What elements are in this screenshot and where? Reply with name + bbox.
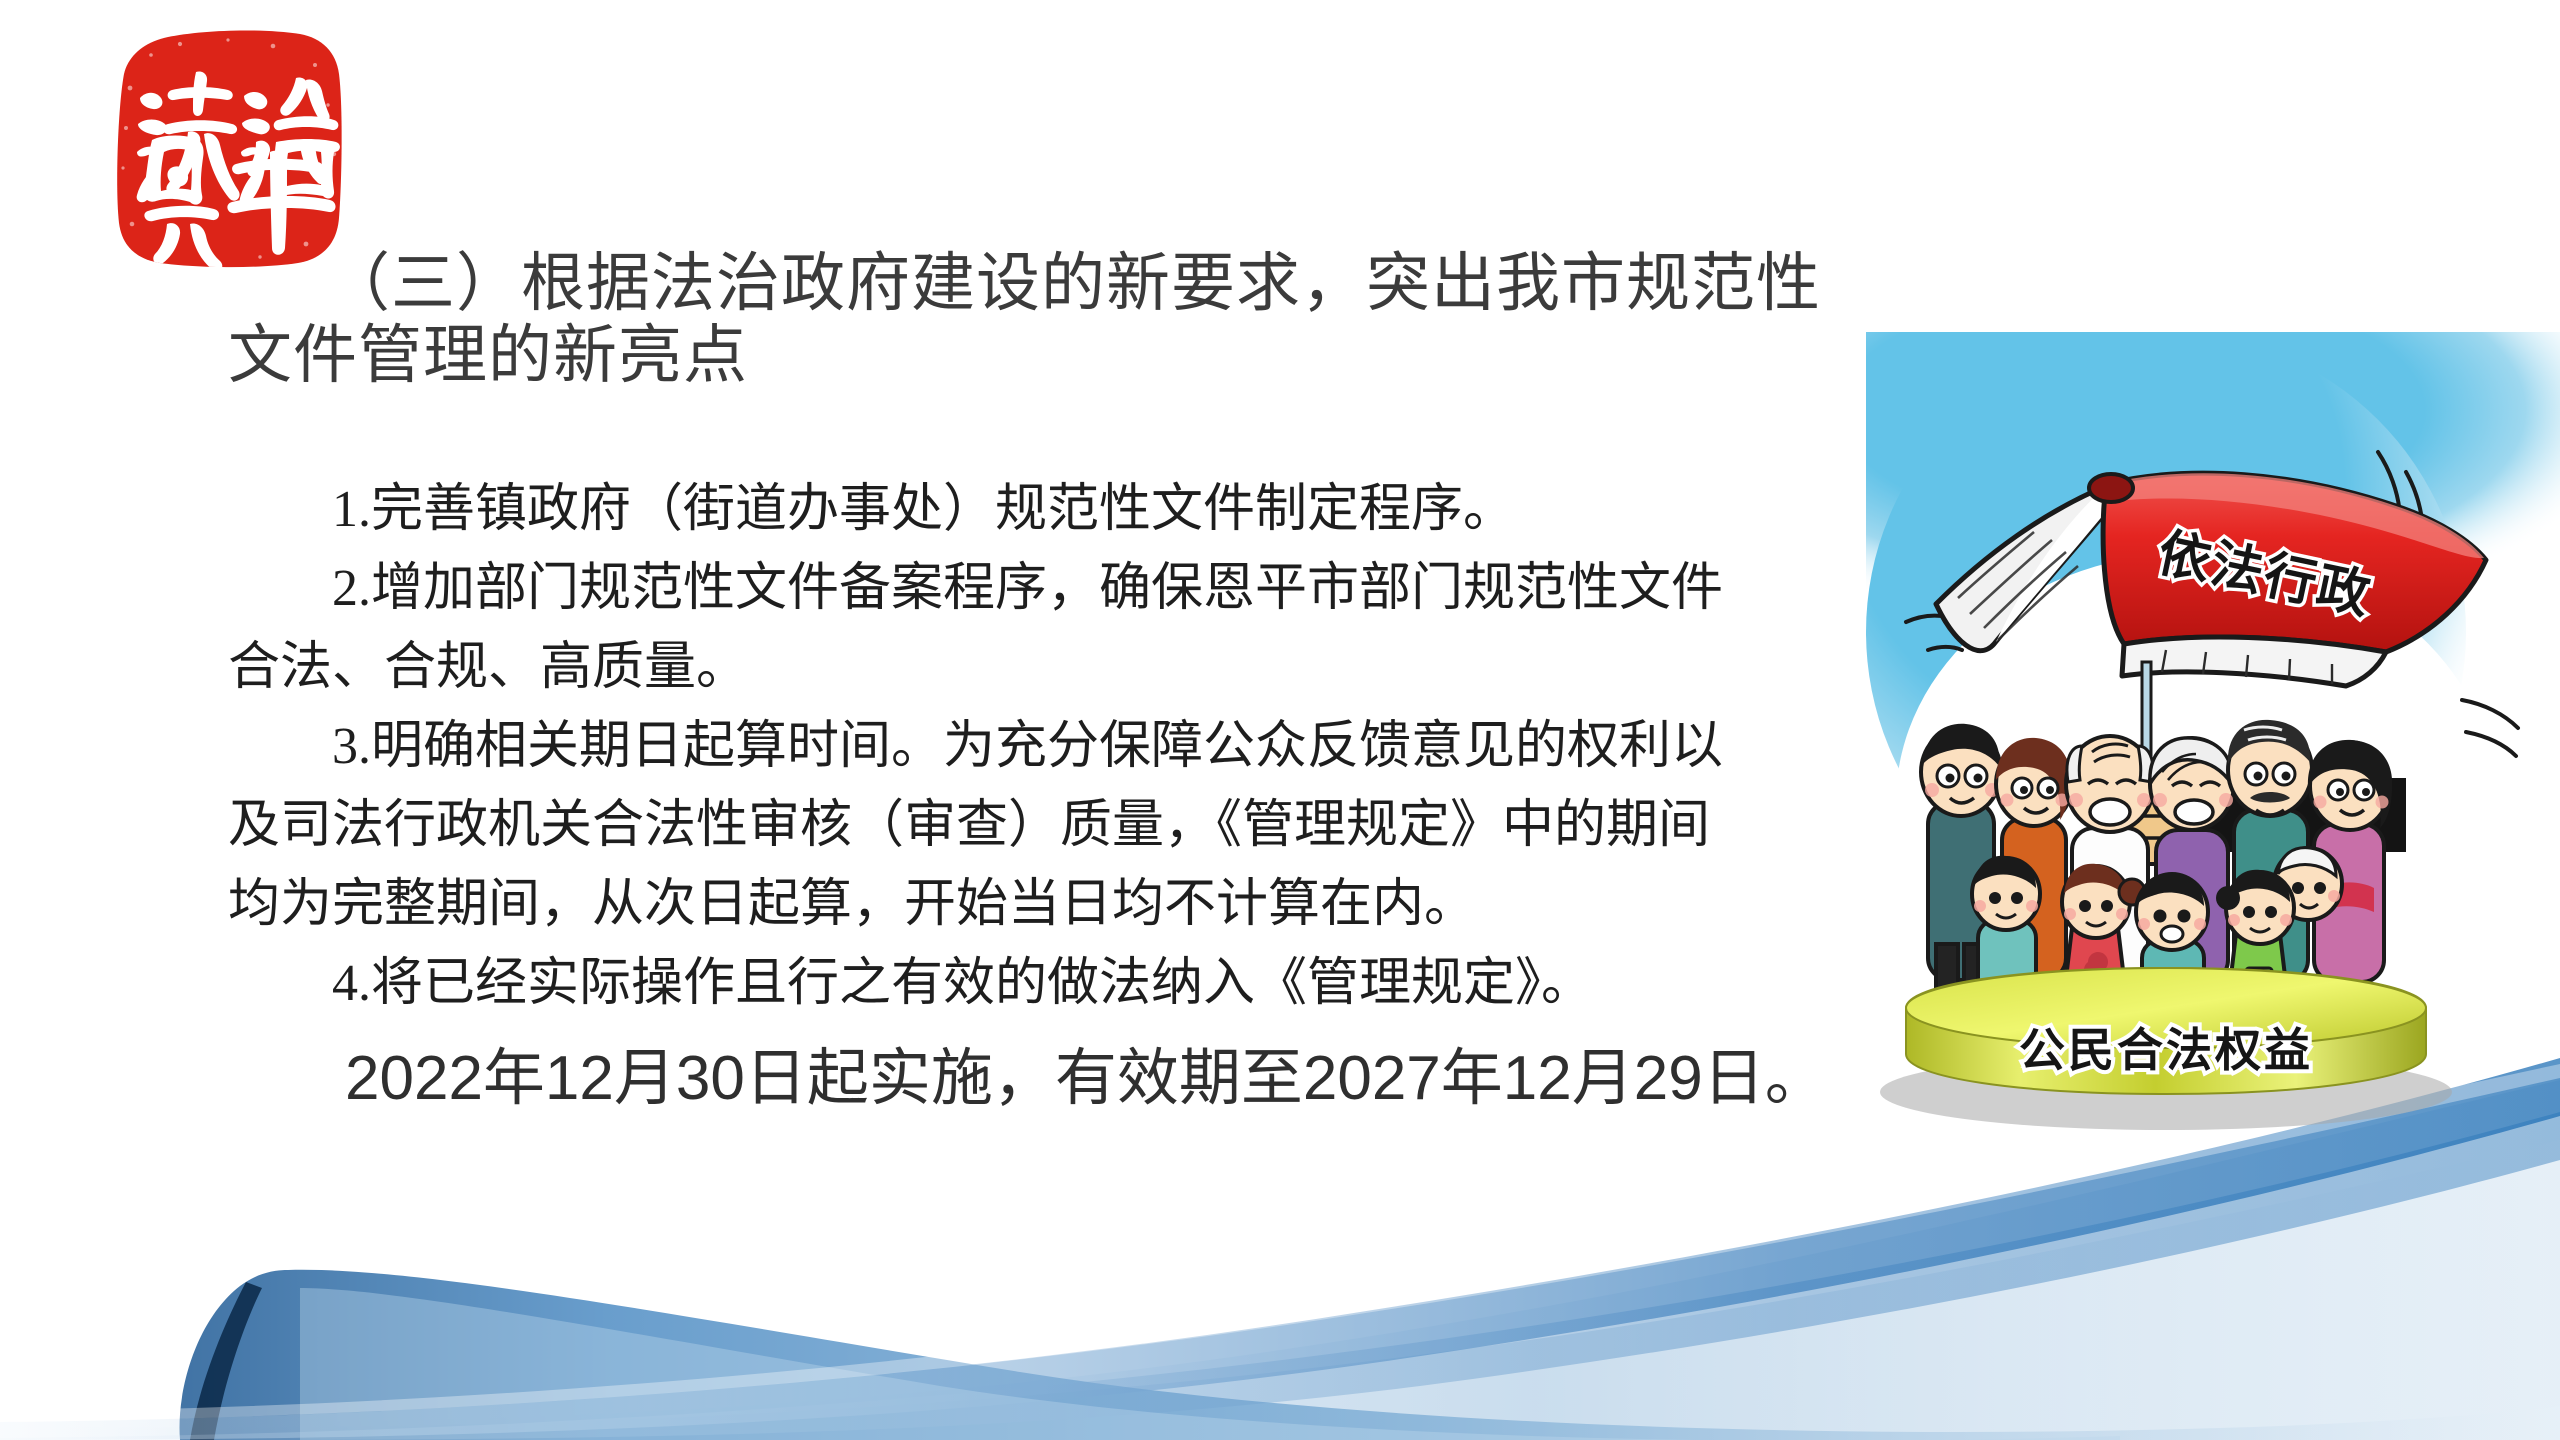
body-item-3-line-1: 3.明确相关期日起算时间。为充分保障公众反馈意见的权利以 bbox=[228, 707, 1973, 786]
body-item-2-line-2: 合法、合规、高质量。 bbox=[228, 628, 1973, 707]
slide-root: 依法行政 bbox=[0, 0, 2560, 1440]
body-item-1-line-1: 1.完善镇政府（街道办事处）规范性文件制定程序。 bbox=[228, 470, 1973, 549]
title-line-2: 文件管理的新亮点 bbox=[228, 319, 748, 391]
seal-logo-fazhi-enping bbox=[110, 28, 342, 268]
body-item-4: 4.将已经实际操作且行之有效的做法纳入《管理规定》。 bbox=[228, 944, 1973, 1023]
body-item-2-line-1: 2.增加部门规范性文件备案程序，确保恩平市部门规范性文件 bbox=[228, 549, 1973, 628]
body-item-3-line-2: 及司法行政机关合法性审核（审查）质量，《管理规定》中的期间 bbox=[228, 786, 1973, 865]
page-title: （三）根据法治政府建设的新要求，突出我市规范性文件管理的新亮点 bbox=[228, 248, 1988, 391]
body-item-4-line-1: 4.将已经实际操作且行之有效的做法纳入《管理规定》。 bbox=[228, 944, 1973, 1023]
body-item-2: 2.增加部门规范性文件备案程序，确保恩平市部门规范性文件 合法、合规、高质量。 bbox=[228, 549, 1973, 707]
body-item-1: 1.完善镇政府（街道办事处）规范性文件制定程序。 bbox=[228, 470, 1973, 549]
effective-date-notice: 2022年12月30日起实施，有效期至2027年12月29日。 bbox=[345, 1042, 1827, 1116]
svg-text:公民合法权益: 公民合法权益 bbox=[2019, 1023, 2313, 1077]
title-line-1: （三）根据法治政府建设的新要求，突出我市规范性 bbox=[228, 247, 1821, 319]
body-text: 1.完善镇政府（街道办事处）规范性文件制定程序。 2.增加部门规范性文件备案程序… bbox=[228, 470, 1973, 1023]
body-item-3-line-3: 均为完整期间，从次日起算，开始当日均不计算在内。 bbox=[228, 865, 1973, 944]
body-item-3: 3.明确相关期日起算时间。为充分保障公众反馈意见的权利以 及司法行政机关合法性审… bbox=[228, 707, 1973, 944]
